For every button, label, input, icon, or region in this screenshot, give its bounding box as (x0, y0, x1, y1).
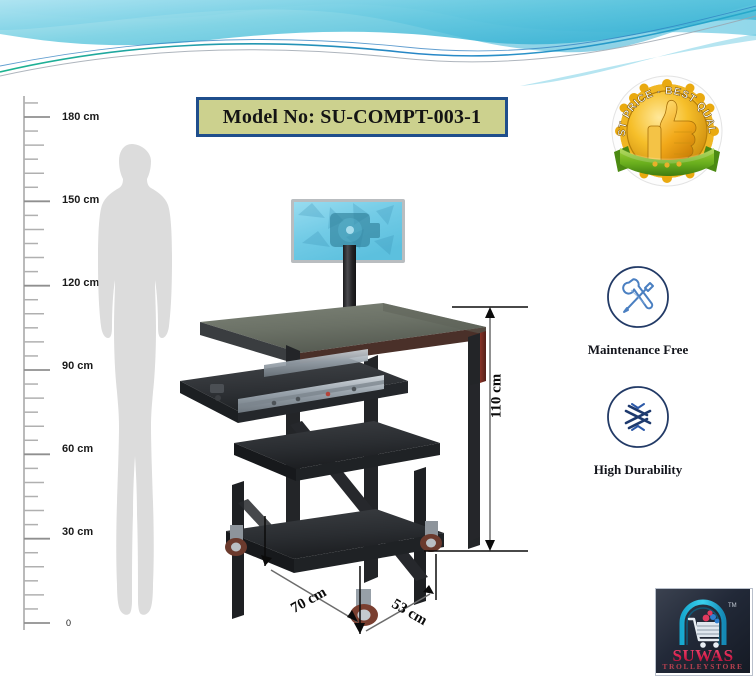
ruler-label-0: 0 (66, 618, 71, 628)
suwas-trolleystore-logo: TM SUWAS TROLLEYSTORE (655, 588, 753, 676)
model-number-banner: Model No: SU-COMPT-003-1 (196, 97, 508, 137)
ruler-label-60: 60 cm (62, 443, 93, 455)
product-spec-sheet: Model No: SU-COMPT-003-1 180 cm 150 cm 1… (0, 0, 756, 680)
trademark-mark: TM (728, 603, 737, 609)
ruler-label-90: 90 cm (62, 360, 93, 372)
brand-tagline: TROLLEYSTORE (662, 662, 743, 671)
computer-trolley-product-image (178, 185, 508, 640)
ruler-label-30: 30 cm (62, 526, 93, 538)
feature-maintenance-free-label: Maintenance Free (558, 342, 718, 358)
human-silhouette-scale-reference (92, 142, 172, 624)
middle-shelf (234, 421, 440, 481)
brand-logo-graphic: TM SUWAS TROLLEYSTORE (656, 589, 750, 673)
dimension-height-label: 110 cm (489, 374, 506, 419)
woven-fibers-icon (605, 384, 671, 450)
model-number-text: Model No: SU-COMPT-003-1 (223, 106, 481, 129)
feature-high-durability: High Durability (558, 384, 718, 478)
feature-maintenance-free: Maintenance Free (558, 264, 718, 358)
best-price-best-quality-badge: BEST PRICE - BEST QUALITY (608, 72, 726, 190)
feature-high-durability-label: High Durability (558, 462, 718, 478)
ruler-label-180: 180 cm (62, 111, 99, 123)
wrench-screwdriver-icon (605, 264, 671, 330)
height-scale-ruler: 180 cm 150 cm 120 cm 90 cm 60 cm 30 cm 0 (22, 96, 88, 630)
